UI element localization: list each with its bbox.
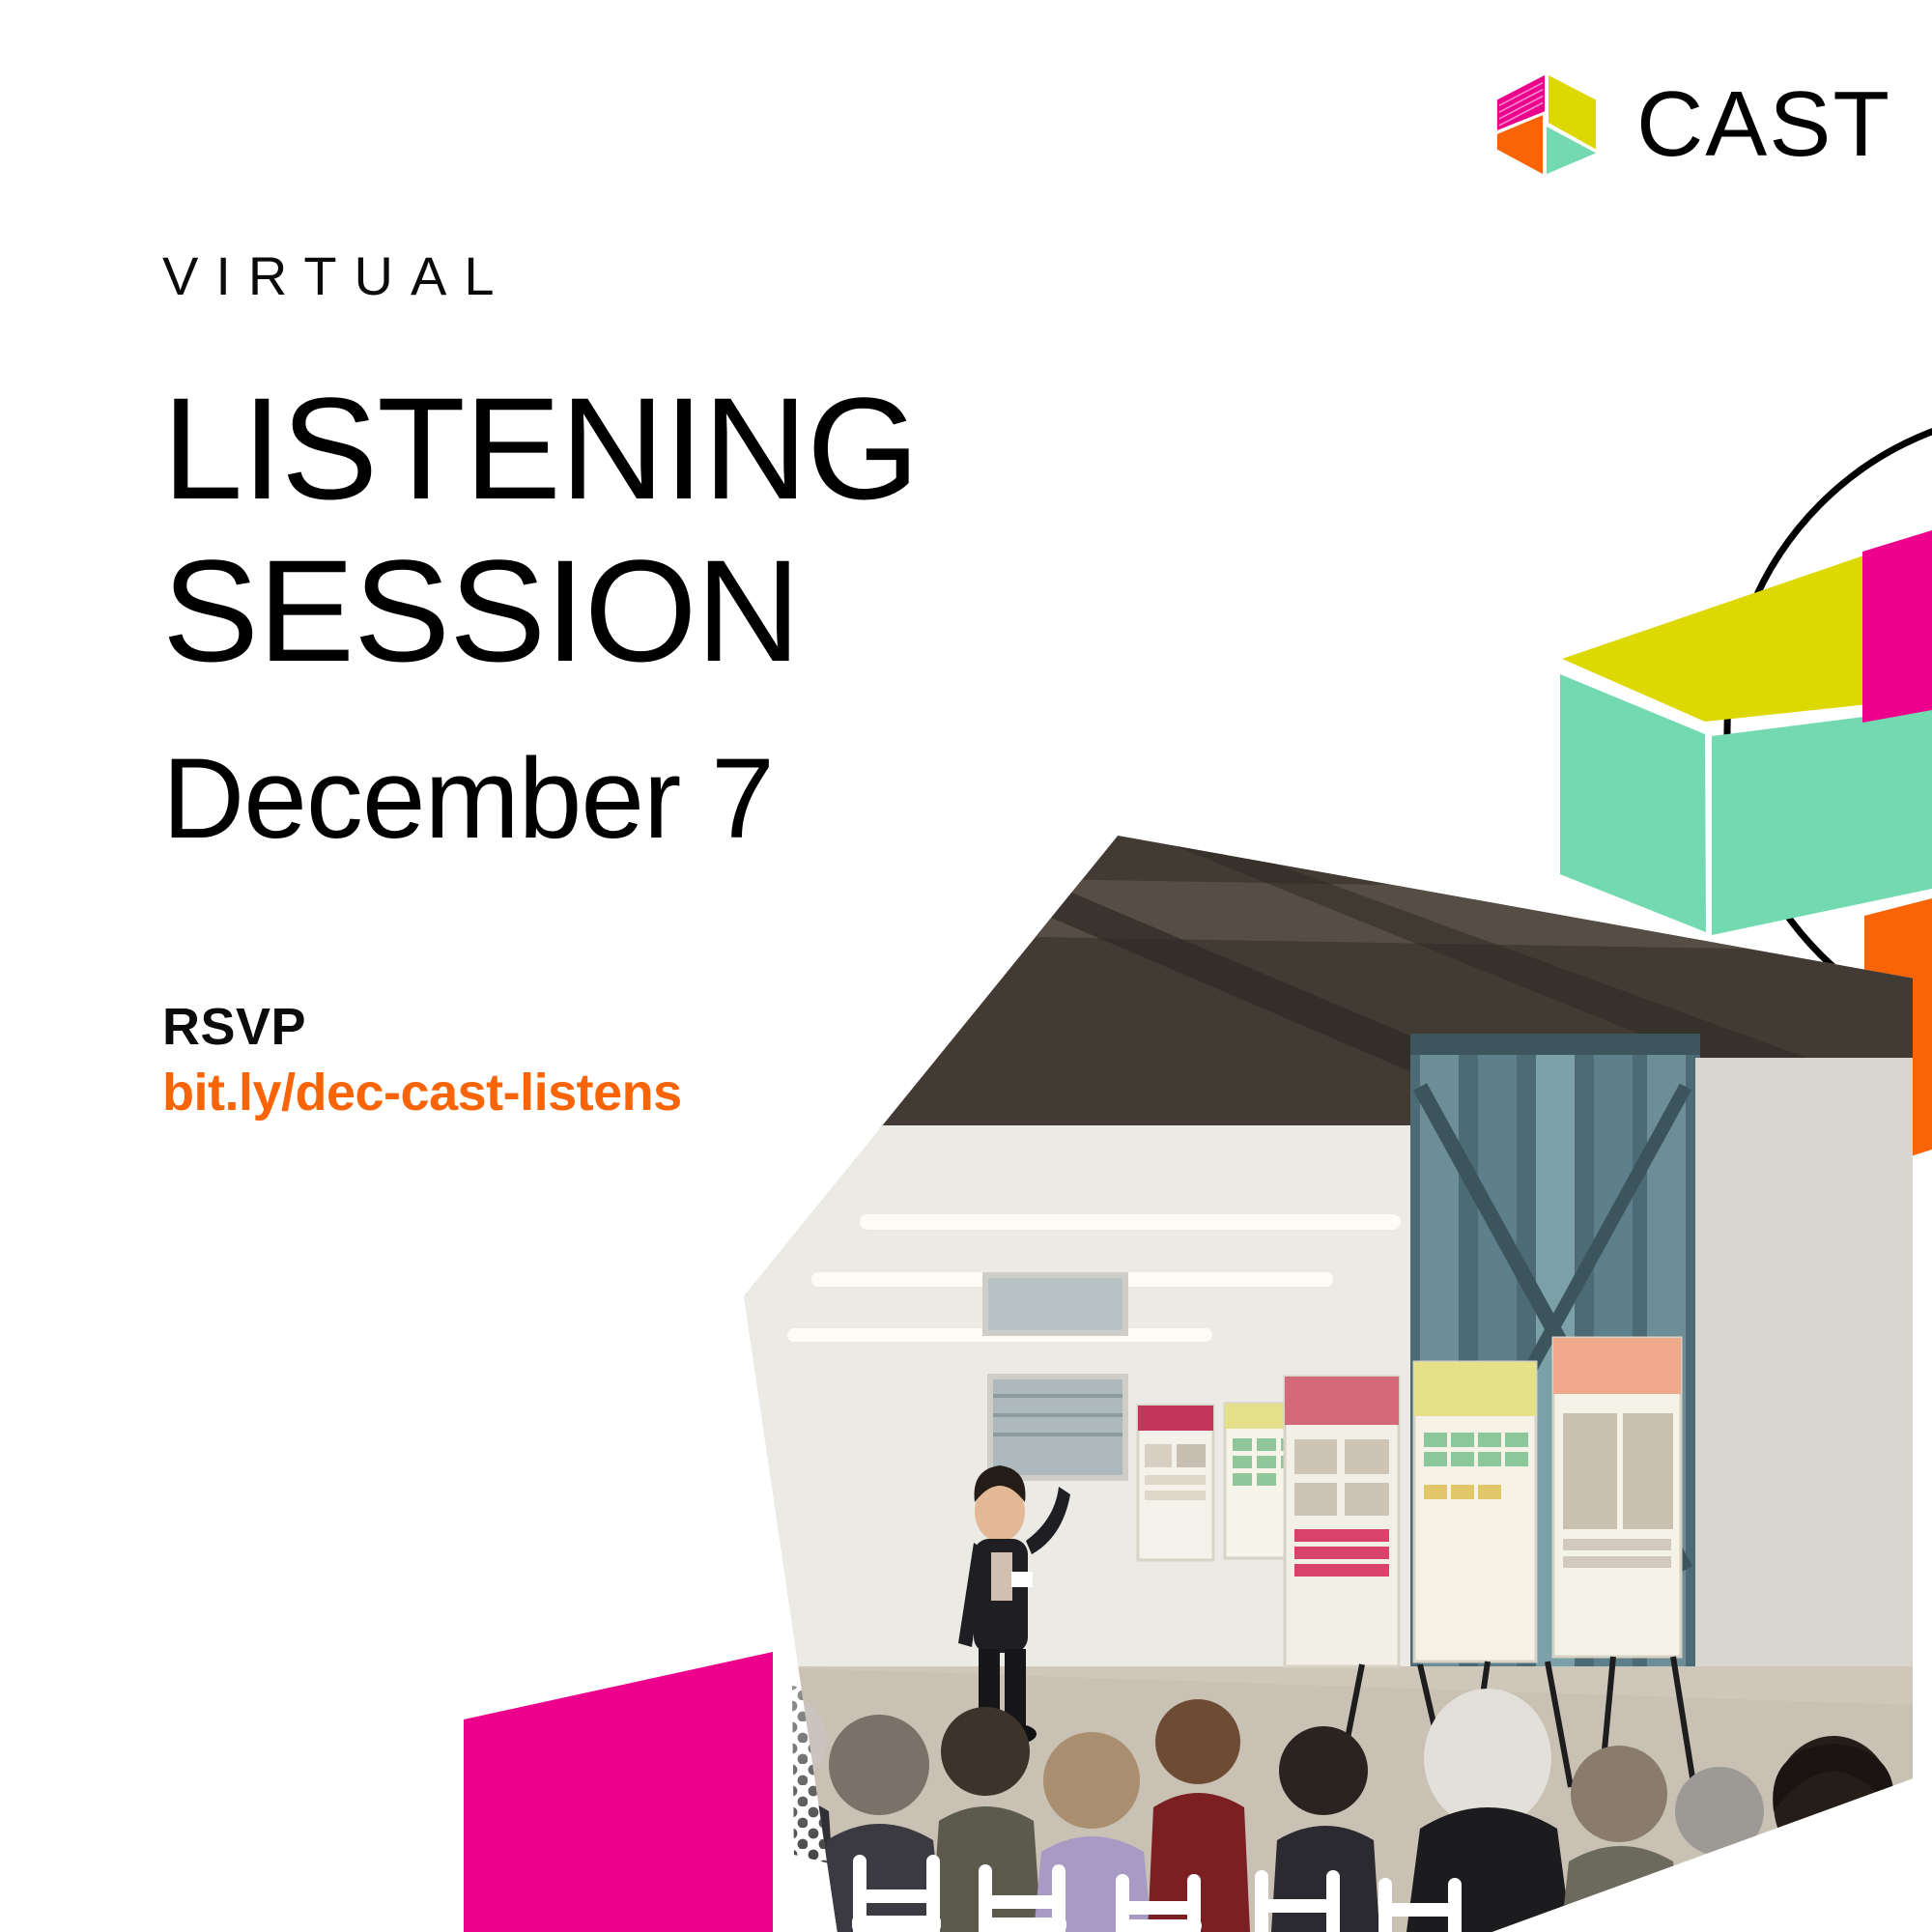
- page-title: LISTENING SESSION: [162, 367, 1128, 692]
- rsvp-link[interactable]: bit.ly/dec-cast-listens: [162, 1065, 1128, 1121]
- event-date: December 7: [162, 742, 1128, 856]
- cube-face-magenta: [1862, 530, 1932, 723]
- cube-face-yellow: [1562, 549, 1932, 722]
- cube-face-mint-lower: [1712, 708, 1932, 935]
- magenta-parallelogram: [464, 1652, 773, 1932]
- cast-wordmark: CAST: [1636, 78, 1891, 171]
- eyebrow-label: VIRTUAL: [162, 249, 1128, 303]
- headline-line-1: LISTENING: [162, 367, 1128, 529]
- poster-text-block: VIRTUAL LISTENING SESSION December 7 RSV…: [162, 249, 1128, 1122]
- cube-face-mint: [1560, 674, 1706, 932]
- rsvp-block: RSVP bit.ly/dec-cast-listens: [162, 999, 1128, 1122]
- headline-line-2: SESSION: [162, 529, 1128, 692]
- poster-canvas: CAST VIRTUAL LISTENING SESSION December …: [0, 0, 1932, 1932]
- cast-logo: CAST: [1490, 68, 1891, 182]
- cast-cube-logo-icon: [1490, 68, 1604, 182]
- rsvp-label: RSVP: [162, 999, 1128, 1055]
